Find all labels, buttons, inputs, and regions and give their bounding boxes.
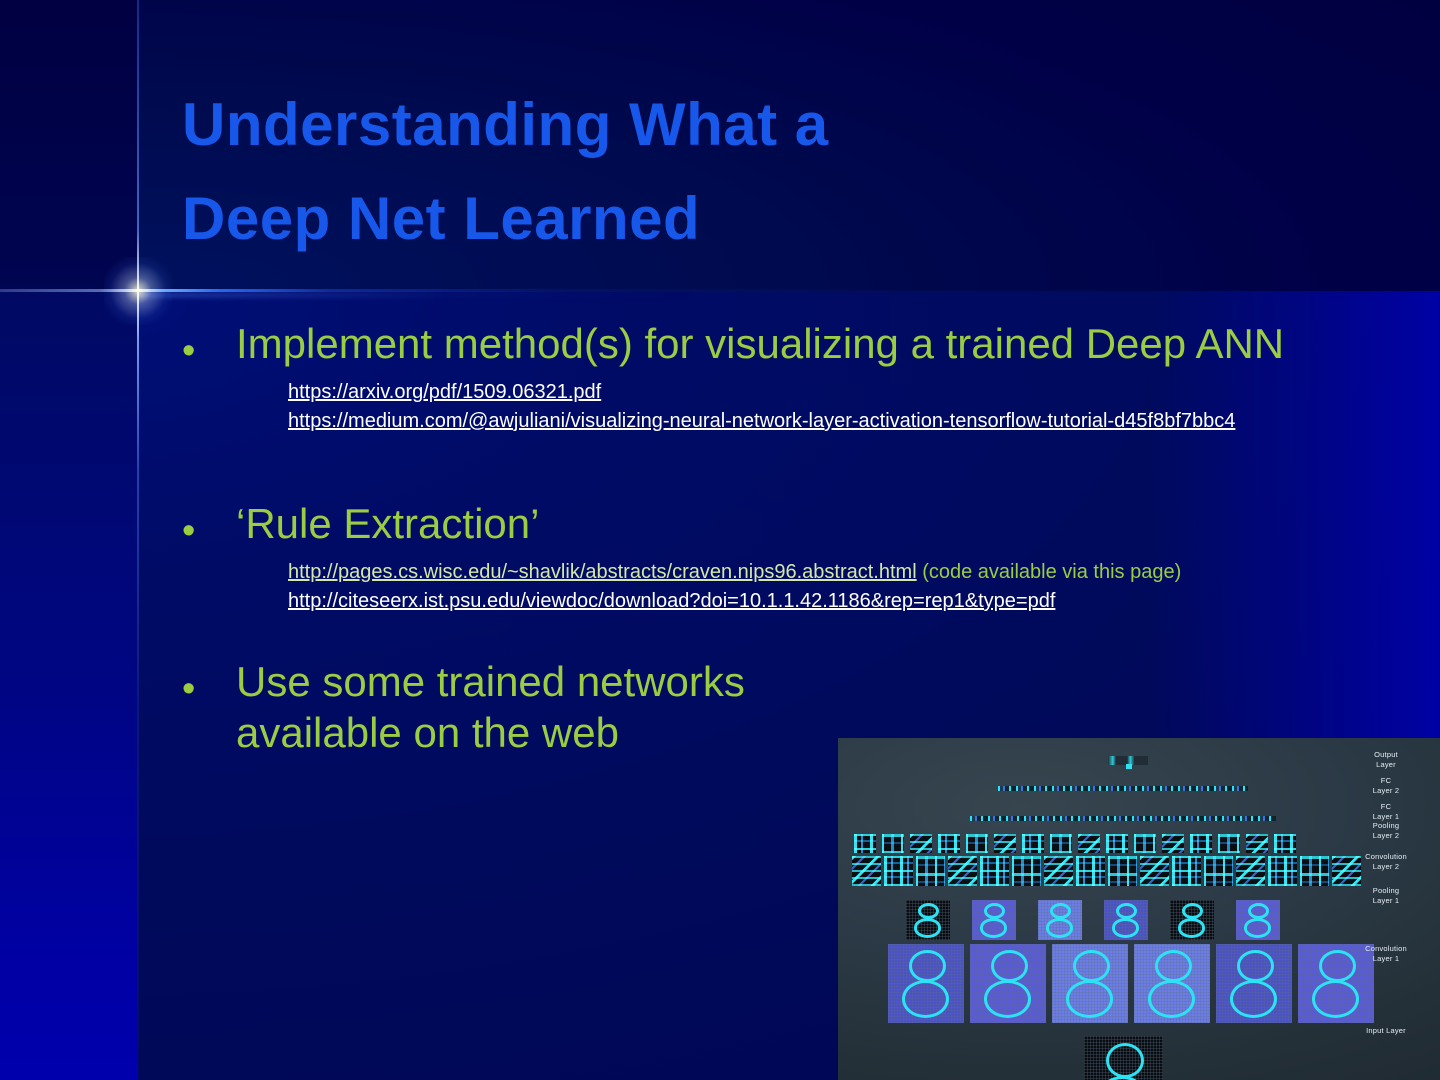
figure-label-output-layer: Output Layer xyxy=(1338,750,1434,770)
link-row: https://medium.com/@awjuliani/visualizin… xyxy=(288,407,1422,436)
figure-label-convolution-layer-2: Convolution Layer 2 xyxy=(1338,852,1434,872)
bullet-marker-icon: • xyxy=(182,656,236,708)
background-left-panel xyxy=(0,291,138,1080)
feature-map xyxy=(1140,856,1169,886)
link-row: http://pages.cs.wisc.edu/~shavlik/abstra… xyxy=(288,558,1422,587)
feature-map xyxy=(1050,834,1072,853)
feature-map-digit xyxy=(1052,944,1128,1023)
input-layer-row xyxy=(1084,1036,1163,1080)
link-list-rule-extraction: http://pages.cs.wisc.edu/~shavlik/abstra… xyxy=(288,558,1422,616)
pooling-layer-1-row xyxy=(906,900,1302,940)
feature-map xyxy=(1300,856,1329,886)
bullet-marker-icon: • xyxy=(182,318,236,370)
feature-map xyxy=(1172,856,1201,886)
feature-map xyxy=(1044,856,1073,886)
feature-map-digit xyxy=(1104,900,1148,940)
feature-map xyxy=(882,834,904,853)
link-list-visualization: https://arxiv.org/pdf/1509.06321.pdf htt… xyxy=(288,378,1422,436)
link-citeseerx-viewdoc[interactable]: http://citeseerx.ist.psu.edu/viewdoc/dow… xyxy=(288,590,1055,612)
convolution-layer-2-row xyxy=(852,856,1364,886)
feature-map xyxy=(1204,856,1233,886)
bullet-item-implement: • Implement method(s) for visualizing a … xyxy=(182,318,1422,370)
feature-map xyxy=(1268,856,1297,886)
link-row: http://citeseerx.ist.psu.edu/viewdoc/dow… xyxy=(288,587,1422,616)
feature-map-digit xyxy=(1216,944,1292,1023)
figure-label-fc-layer-2: FC Layer 2 xyxy=(1338,776,1434,796)
figure-label-fc-layer-1: FC Layer 1 xyxy=(1338,802,1434,822)
feature-map-digit xyxy=(970,944,1046,1023)
feature-map-digit xyxy=(888,944,964,1023)
bullet-text-rule-extraction: ‘Rule Extraction’ xyxy=(236,498,1422,549)
slide-body: • Implement method(s) for visualizing a … xyxy=(182,318,1422,758)
feature-map xyxy=(994,834,1016,853)
feature-map xyxy=(980,856,1009,886)
fc-layer-2-activation-bar xyxy=(998,786,1248,791)
feature-map xyxy=(884,856,913,886)
feature-map xyxy=(910,834,932,853)
vertical-divider-line xyxy=(137,0,139,1080)
feature-map xyxy=(1078,834,1100,853)
feature-map xyxy=(1236,856,1265,886)
feature-map xyxy=(1108,856,1137,886)
feature-map xyxy=(1106,834,1128,853)
background-left-panel-top xyxy=(0,0,138,291)
feature-map-digit xyxy=(1134,944,1210,1023)
fc-layer-1-activation-bar xyxy=(970,816,1276,821)
figure-label-pooling-layer-1: Pooling Layer 1 xyxy=(1338,886,1434,906)
link-row: https://arxiv.org/pdf/1509.06321.pdf xyxy=(288,378,1422,407)
figure-label-input-layer: Input Layer xyxy=(1338,1026,1434,1036)
link-medium-awjuliani[interactable]: https://medium.com/@awjuliani/visualizin… xyxy=(288,410,1235,432)
feature-map xyxy=(1218,834,1240,853)
horizontal-divider-glow xyxy=(138,292,698,298)
feature-map-digit xyxy=(1170,900,1214,940)
feature-map xyxy=(1162,834,1184,853)
spacer xyxy=(182,616,1422,656)
feature-map xyxy=(966,834,988,853)
feature-map xyxy=(948,856,977,886)
pooling-layer-2-row xyxy=(854,834,1302,853)
convolution-layer-1-row xyxy=(888,944,1380,1023)
input-digit-image xyxy=(1084,1036,1163,1080)
feature-map xyxy=(1134,834,1156,853)
feature-map xyxy=(852,856,881,886)
figure-layer-labels: Output Layer FC Layer 2 FC Layer 1 Pooli… xyxy=(1338,738,1434,1080)
feature-map xyxy=(854,834,876,853)
feature-map xyxy=(1022,834,1044,853)
feature-map xyxy=(1076,856,1105,886)
bullet-text-implement: Implement method(s) for visualizing a tr… xyxy=(236,318,1422,369)
figure-label-pooling-layer-2: Pooling Layer 2 xyxy=(1338,821,1434,841)
feature-map-digit xyxy=(1038,900,1082,940)
output-layer-selected-node xyxy=(1126,764,1132,769)
cnn-visualization-image: Output Layer FC Layer 2 FC Layer 1 Pooli… xyxy=(838,738,1440,1080)
feature-map-digit xyxy=(906,900,950,940)
link-arxiv-1509-06321[interactable]: https://arxiv.org/pdf/1509.06321.pdf xyxy=(288,381,601,403)
spacer xyxy=(182,436,1422,498)
feature-map xyxy=(938,834,960,853)
slide: Understanding What a Deep Net Learned • … xyxy=(0,0,1440,1080)
feature-map xyxy=(1246,834,1268,853)
bullet-marker-icon: • xyxy=(182,498,236,550)
feature-map xyxy=(1190,834,1212,853)
figure-label-convolution-layer-1: Convolution Layer 1 xyxy=(1338,944,1434,964)
feature-map xyxy=(1012,856,1041,886)
feature-map-digit xyxy=(1236,900,1280,940)
link-wisc-craven-nips96[interactable]: http://pages.cs.wisc.edu/~shavlik/abstra… xyxy=(288,561,917,583)
feature-map xyxy=(916,856,945,886)
page-title: Understanding What a Deep Net Learned xyxy=(182,78,1182,265)
feature-map-digit xyxy=(972,900,1016,940)
feature-map xyxy=(1274,834,1296,853)
link-note-code-available: (code available via this page) xyxy=(917,561,1182,583)
bullet-item-rule-extraction: • ‘Rule Extraction’ xyxy=(182,498,1422,550)
bullet-text-use-trained-networks: Use some trained networks available on t… xyxy=(236,656,796,758)
